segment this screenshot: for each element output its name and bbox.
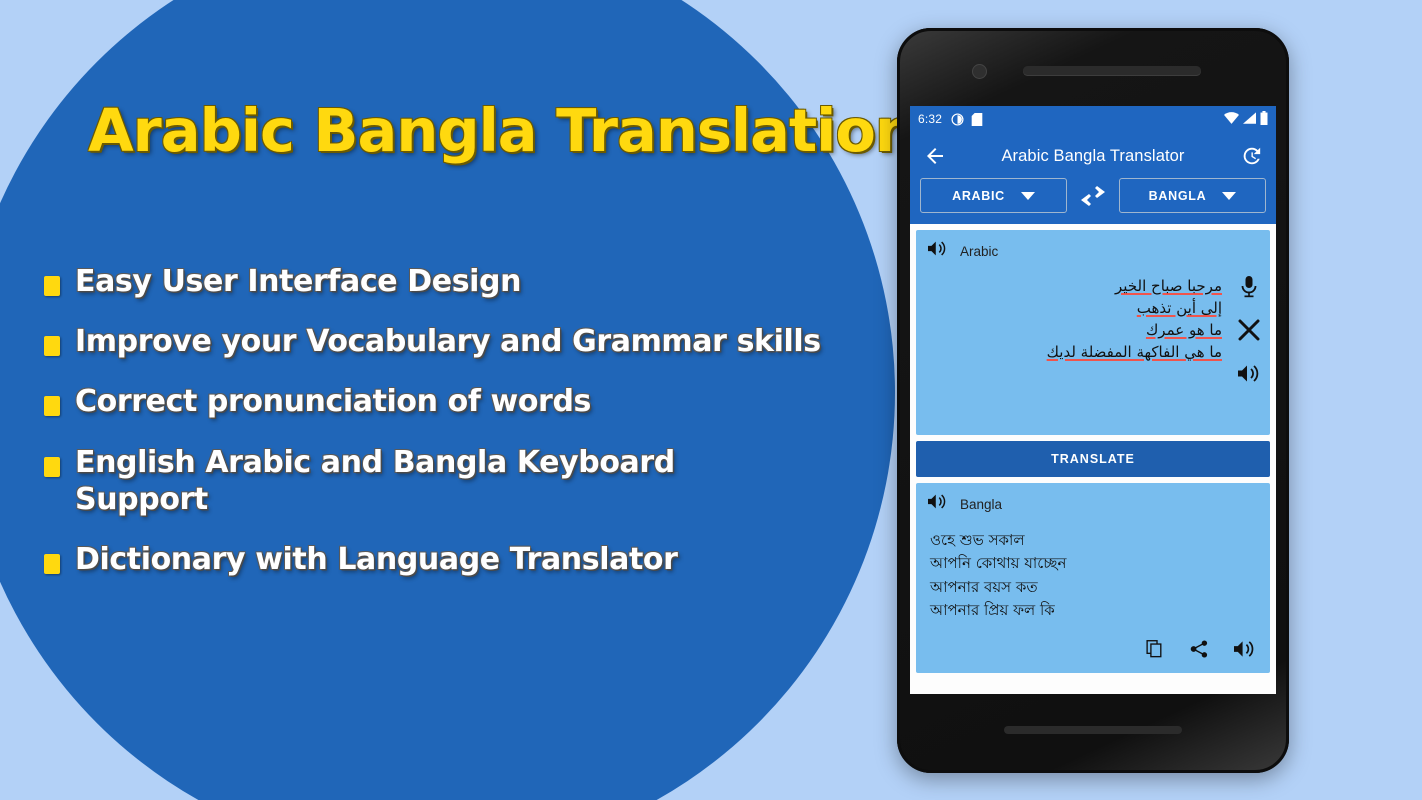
source-card-header: Arabic xyxy=(916,230,1270,264)
feature-label: Correct pronunciation of words xyxy=(75,383,591,420)
source-text[interactable]: مرحبا صباح الخير إلى أين تذهب ما هو عمرك… xyxy=(930,276,1222,364)
list-item: English Arabic and Bangla Keyboard Suppo… xyxy=(44,444,874,518)
app-bar-top-row: Arabic Bangla Translator xyxy=(920,137,1266,175)
feature-label: Improve your Vocabulary and Grammar skil… xyxy=(75,323,821,360)
app-content: Arabic مرحبا صباح الخير إلى أين تذهب ما … xyxy=(910,224,1276,673)
target-card-actions xyxy=(1140,635,1258,663)
wifi-icon xyxy=(1224,112,1239,127)
status-bar: 6:32 xyxy=(910,106,1276,132)
target-language-dropdown[interactable]: BANGLA xyxy=(1119,178,1266,213)
do-not-disturb-icon xyxy=(951,113,964,126)
copy-icon[interactable] xyxy=(1140,635,1168,663)
history-icon[interactable] xyxy=(1236,141,1266,171)
swap-languages-button[interactable] xyxy=(1067,186,1119,206)
clear-icon[interactable] xyxy=(1235,316,1263,344)
target-line: ওহে শুভ সকাল xyxy=(930,529,1270,552)
feature-list: Easy User Interface Design Improve your … xyxy=(44,263,874,601)
source-language-dropdown[interactable]: ARABIC xyxy=(920,178,1067,213)
target-line: আপনার প্রিয় ফল কি xyxy=(930,599,1270,622)
target-card-label: Bangla xyxy=(960,497,1002,512)
source-line: إلى أين تذهب xyxy=(930,298,1222,320)
target-language-label: BANGLA xyxy=(1149,189,1207,203)
source-card-label: Arabic xyxy=(960,244,998,259)
microphone-icon[interactable] xyxy=(1235,273,1263,301)
target-text: ওহে শুভ সকাল আপনি কোথায় যাচ্ছেন আপনার ব… xyxy=(916,517,1270,622)
list-item: Correct pronunciation of words xyxy=(44,383,874,420)
status-right-icons xyxy=(1224,111,1268,128)
source-line: ما هو عمرك xyxy=(930,320,1222,342)
chevron-down-icon xyxy=(1021,192,1035,200)
speaker-icon[interactable] xyxy=(1230,635,1258,663)
chevron-down-icon xyxy=(1222,192,1236,200)
source-language-label: ARABIC xyxy=(952,189,1005,203)
bottom-speaker xyxy=(1004,726,1182,734)
feature-label: English Arabic and Bangla Keyboard Suppo… xyxy=(75,444,685,518)
source-card-actions xyxy=(1235,273,1263,387)
target-text-card: Bangla ওহে শুভ সকাল আপনি কোথায় যাচ্ছেন … xyxy=(916,483,1270,673)
sd-card-icon xyxy=(971,113,983,126)
bullet-icon xyxy=(44,457,60,477)
list-item: Improve your Vocabulary and Grammar skil… xyxy=(44,323,874,360)
promo-panel: Arabic Bangla Translation Easy User Inte… xyxy=(0,0,900,800)
page-title: Arabic Bangla Translation xyxy=(88,96,900,165)
language-selector-row: ARABIC BANGLA xyxy=(920,175,1266,224)
bullet-icon xyxy=(44,336,60,356)
bullet-icon xyxy=(44,554,60,574)
source-line: ما هي الفاكهة المفضلة لديك xyxy=(930,342,1222,364)
phone-mockup: 6:32 xyxy=(897,28,1289,773)
promo-content: Arabic Bangla Translation Easy User Inte… xyxy=(0,0,900,800)
source-text-card: Arabic مرحبا صباح الخير إلى أين تذهب ما … xyxy=(916,230,1270,435)
feature-label: Dictionary with Language Translator xyxy=(75,541,678,578)
speaker-icon[interactable] xyxy=(928,240,947,262)
app-title: Arabic Bangla Translator xyxy=(950,147,1236,166)
back-arrow-icon[interactable] xyxy=(920,141,950,171)
app-bar: Arabic Bangla Translator ARABIC xyxy=(910,132,1276,224)
status-time: 6:32 xyxy=(918,112,942,126)
target-line: আপনি কোথায় যাচ্ছেন xyxy=(930,552,1270,575)
feature-label: Easy User Interface Design xyxy=(75,263,521,300)
target-line: আপনার বয়স কত xyxy=(930,576,1270,599)
battery-icon xyxy=(1260,111,1268,128)
target-card-header: Bangla xyxy=(916,483,1270,517)
speaker-icon[interactable] xyxy=(928,493,947,515)
front-camera-icon xyxy=(972,64,987,79)
bullet-icon xyxy=(44,276,60,296)
list-item: Dictionary with Language Translator xyxy=(44,541,874,578)
phone-screen: 6:32 xyxy=(910,106,1276,694)
share-icon[interactable] xyxy=(1185,635,1213,663)
signal-icon xyxy=(1243,112,1256,127)
source-line: مرحبا صباح الخير xyxy=(930,276,1222,298)
earpiece-speaker xyxy=(1023,66,1201,75)
translate-button[interactable]: TRANSLATE xyxy=(916,441,1270,477)
bullet-icon xyxy=(44,396,60,416)
speaker-icon[interactable] xyxy=(1235,359,1263,387)
list-item: Easy User Interface Design xyxy=(44,263,874,300)
